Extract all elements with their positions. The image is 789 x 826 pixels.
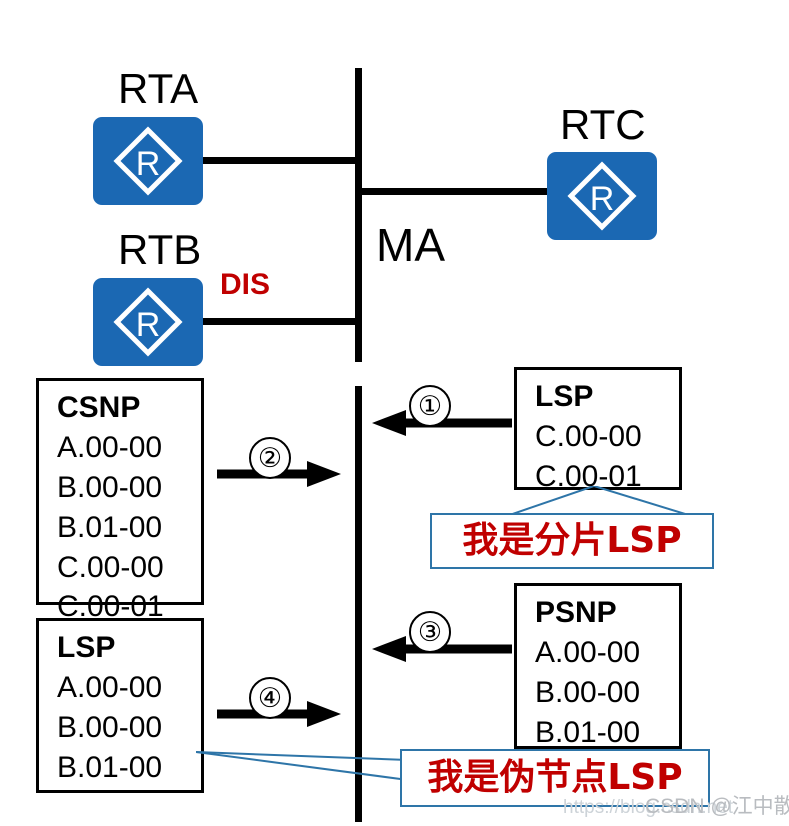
packet-title: LSP [57,628,201,668]
svg-text:R: R [136,145,161,183]
router-label-rtb: RTB [118,229,201,271]
step-number-1: ① [409,385,451,427]
link-rta-to-bus [203,157,358,164]
packet-entry: B.00-00 [57,468,201,508]
router-icon: R [564,158,640,234]
callout-leader-pseudonode-lsp [196,748,408,782]
step-number-4: ④ [249,677,291,719]
packet-entry: A.00-00 [57,428,201,468]
callout-text: 我是分片LSP [462,523,681,559]
link-rtb-to-bus [203,318,358,325]
router-icon-rtb[interactable]: R [93,278,203,366]
callout-fragment-lsp[interactable]: 我是分片LSP [430,513,714,569]
packet-entry: C.00-01 [535,457,679,497]
ma-bus-lower-segment [355,386,362,822]
packet-title: LSP [535,377,679,417]
packet-box-psnp[interactable]: PSNP A.00-00 B.00-00 B.01-00 [514,583,682,749]
router-icon-rta[interactable]: R [93,117,203,205]
packet-entry: C.00-00 [535,417,679,457]
packet-entry: B.01-00 [57,508,201,548]
packet-entry: B.00-00 [57,708,201,748]
step-number-3: ③ [409,611,451,653]
packet-entry: B.01-00 [535,713,679,753]
router-label-rta: RTA [118,68,198,110]
router-icon: R [110,123,186,199]
router-label-rtc: RTC [560,104,646,146]
packet-title: CSNP [57,388,201,428]
packet-entry: A.00-00 [535,633,679,673]
packet-entry: A.00-00 [57,668,201,708]
packet-box-csnp[interactable]: CSNP A.00-00 B.00-00 B.01-00 C.00-00 C.0… [36,378,204,605]
ma-network-label: MA [376,222,445,268]
step-number-2: ② [249,437,291,479]
router-icon: R [110,284,186,360]
link-bus-to-rtc [355,188,548,195]
packet-title: PSNP [535,593,679,633]
router-icon-rtc[interactable]: R [547,152,657,240]
leader-line-icon [196,748,408,782]
packet-box-lsp-left[interactable]: LSP A.00-00 B.00-00 B.01-00 [36,618,204,793]
svg-text:R: R [590,180,615,218]
watermark-author: CSDN @江中散人 [645,796,789,817]
isis-lsdb-sync-diagram: RTA R RTB R RTC R MA DIS CSNP A.00-00 B.… [0,0,789,826]
packet-entry: C.00-00 [57,548,201,588]
dis-label: DIS [220,270,270,300]
callout-text: 我是伪节点LSP [427,760,682,796]
packet-box-lsp-right[interactable]: LSP C.00-00 C.00-01 [514,367,682,490]
svg-text:R: R [136,306,161,344]
packet-entry: B.00-00 [535,673,679,713]
packet-entry: B.01-00 [57,748,201,788]
